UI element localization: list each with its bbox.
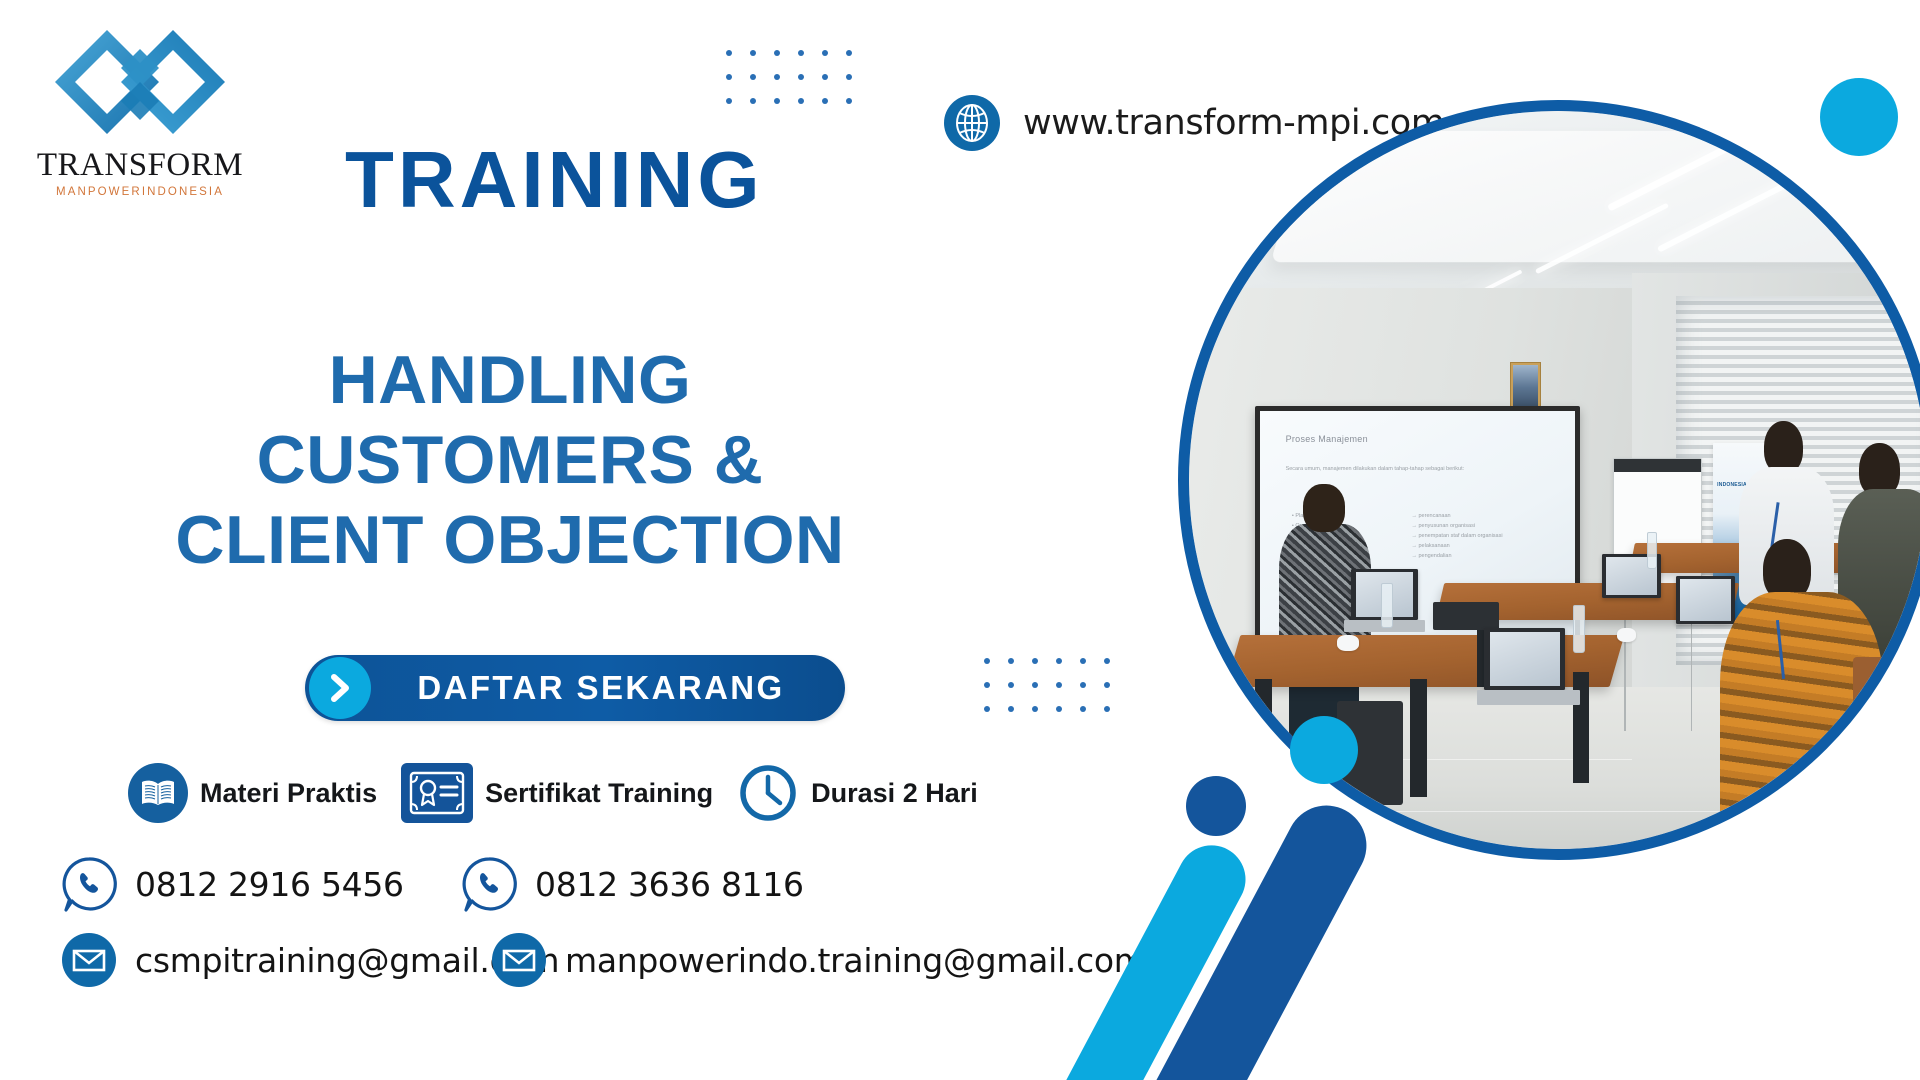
feature-badges: Materi Praktis Sertifikat Training [128,762,978,824]
email-row: csmpitraining@gmail.com manpowerindo.tra… [60,931,1130,989]
abstract-people-decoration [1020,680,1380,1080]
register-now-label: DAFTAR SEKARANG [371,669,845,707]
page-title: HANDLING CUSTOMERS & CLIENT OBJECTION [130,340,1130,581]
contact-phone-2-value: 0812 3636 8116 [535,865,804,904]
slide-right-items: → perencanaan → penyusunan organisasi → … [1411,511,1502,562]
slide-title: Proses Manajemen [1286,434,1368,444]
whatsapp-icon [60,855,118,913]
chevron-right-icon [309,657,371,719]
training-flyer: TRANSFORM MANPOWERINDONESIA www.transfor… [0,0,1920,1080]
whatsapp-icon [460,855,518,913]
page-title-line-2: CLIENT OBJECTION [130,500,890,580]
brand-logo: TRANSFORM MANPOWERINDONESIA [30,22,250,198]
feature-label-sertifikat-training: Sertifikat Training [485,778,713,809]
contact-email-1[interactable]: csmpitraining@gmail.com [60,931,490,989]
brand-tagline: MANPOWERINDONESIA [30,186,250,198]
feature-label-materi-praktis: Materi Praktis [200,778,377,809]
contact-block: 0812 2916 5456 0812 3636 8116 csmpitrain… [60,855,1130,1007]
dot-grid-decoration-top [726,50,852,104]
contact-phone-2[interactable]: 0812 3636 8116 [460,855,804,913]
phone-row: 0812 2916 5456 0812 3636 8116 [60,855,1130,913]
page-kicker: TRAINING [345,140,764,220]
register-now-button[interactable]: DAFTAR SEKARANG [305,655,845,721]
interlocking-diamonds-logo-icon [55,22,225,147]
slide-subtitle: Secara umum, manajemen dilakukan dalam t… [1286,465,1550,473]
envelope-icon [490,931,548,989]
contact-phone-1[interactable]: 0812 2916 5456 [60,855,460,913]
contact-phone-1-value: 0812 2916 5456 [135,865,404,904]
feature-durasi: Durasi 2 Hari [737,762,978,824]
envelope-icon [60,931,118,989]
feature-sertifikat-training: Sertifikat Training [401,763,713,823]
globe-icon [944,95,1000,151]
brand-name: TRANSFORM [30,149,250,182]
certificate-icon [401,763,473,823]
clock-icon [737,762,799,824]
feature-materi-praktis: Materi Praktis [128,763,377,823]
page-title-line-1: HANDLING CUSTOMERS & [130,340,890,500]
feature-label-durasi: Durasi 2 Hari [811,778,978,809]
open-book-icon [128,763,188,823]
